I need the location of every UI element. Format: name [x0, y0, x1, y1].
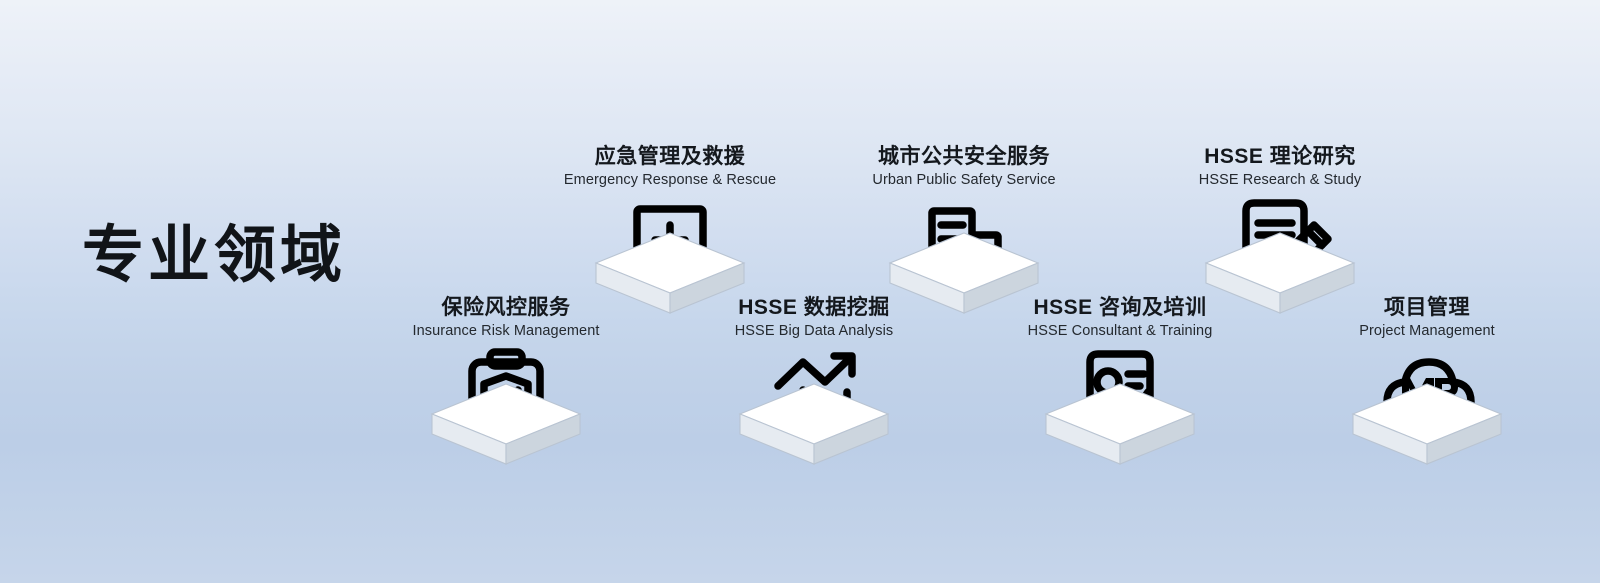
domain-item-title-cn: HSSE 理论研究: [1130, 145, 1430, 169]
pedestal-base: [432, 384, 580, 464]
professional-domains-banner: 专业领域 保险风控服务Insurance Risk Management 应急管…: [0, 0, 1600, 583]
domain-item-title-cn: 城市公共安全服务: [814, 145, 1114, 169]
domain-item-project-management[interactable]: 项目管理Project Management: [1277, 296, 1577, 465]
domain-item-title-cn: 项目管理: [1277, 296, 1577, 320]
domain-item-title-en: Project Management: [1277, 322, 1577, 342]
pedestal-base: [1046, 384, 1194, 464]
domain-item-title-en: Insurance Risk Management: [356, 322, 656, 342]
domain-item-emergency-response-rescue[interactable]: 应急管理及救援Emergency Response & Rescue: [520, 145, 820, 314]
domain-item-title-en: HSSE Research & Study: [1130, 171, 1430, 191]
domain-item-caption: 城市公共安全服务Urban Public Safety Service: [814, 145, 1114, 191]
domain-item-title-en: HSSE Big Data Analysis: [664, 322, 964, 342]
domain-item-caption: 项目管理Project Management: [1277, 296, 1577, 342]
domain-item-title-en: Emergency Response & Rescue: [520, 171, 820, 191]
domain-item-title-cn: 应急管理及救援: [520, 145, 820, 169]
page-title: 专业领域: [82, 225, 346, 287]
domain-item-artwork: [1277, 350, 1577, 465]
domain-item-artwork: [970, 350, 1270, 465]
domain-item-artwork: [664, 350, 964, 465]
domain-item-artwork: [356, 350, 656, 465]
domain-item-caption: 应急管理及救援Emergency Response & Rescue: [520, 145, 820, 191]
pedestal-base: [1353, 384, 1501, 464]
domain-item-hsse-research-study[interactable]: HSSE 理论研究HSSE Research & Study: [1130, 145, 1430, 314]
domain-item-caption: HSSE 理论研究HSSE Research & Study: [1130, 145, 1430, 191]
pedestal-base: [740, 384, 888, 464]
domain-item-title-en: HSSE Consultant & Training: [970, 322, 1270, 342]
domain-item-title-en: Urban Public Safety Service: [814, 171, 1114, 191]
domain-item-urban-public-safety-service[interactable]: 城市公共安全服务Urban Public Safety Service: [814, 145, 1114, 314]
